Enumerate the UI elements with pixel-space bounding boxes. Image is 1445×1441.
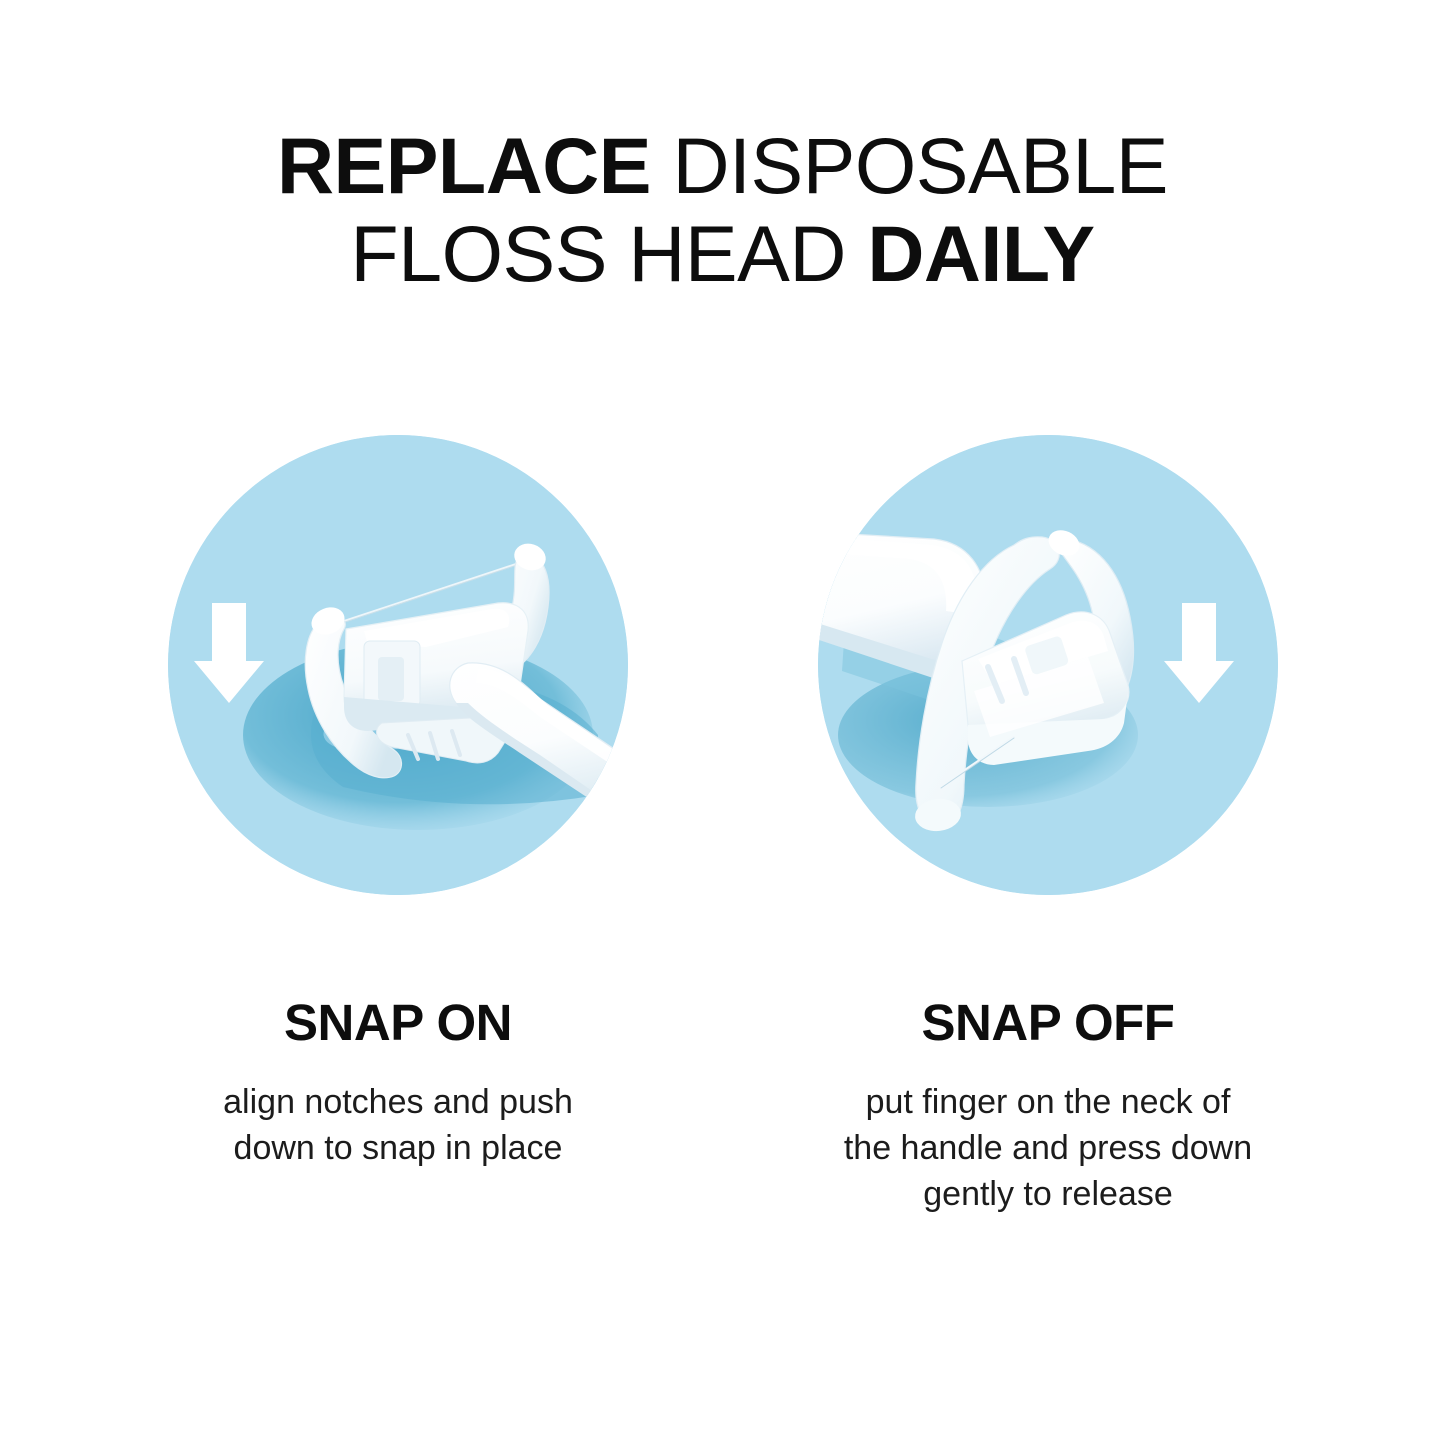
caption-snap-off: SNAP OFF put finger on the neck of the h… xyxy=(748,995,1348,1217)
page-title-word-floss-head: FLOSS HEAD xyxy=(350,209,845,298)
caption-line: gently to release xyxy=(772,1171,1324,1217)
steps-container: SNAP ON align notches and push down to s… xyxy=(0,435,1445,1235)
caption-line: put finger on the neck of xyxy=(772,1079,1324,1125)
caption-line: down to snap in place xyxy=(122,1125,674,1171)
page-title-word-daily: DAILY xyxy=(867,209,1094,298)
product-photo-snap-on xyxy=(168,435,628,895)
floss-head-snap-off-illustration xyxy=(818,435,1278,895)
page-title-word-disposable: DISPOSABLE xyxy=(672,121,1168,210)
caption-heading-snap-on: SNAP ON xyxy=(98,995,698,1051)
caption-line: align notches and push xyxy=(122,1079,674,1125)
caption-body-snap-off: put finger on the neck of the handle and… xyxy=(748,1079,1348,1217)
caption-body-snap-on: align notches and push down to snap in p… xyxy=(98,1079,698,1171)
floss-head-snap-on-illustration xyxy=(168,435,628,895)
caption-heading-snap-off: SNAP OFF xyxy=(748,995,1348,1051)
step-panel-snap-off: SNAP OFF put finger on the neck of the h… xyxy=(748,435,1348,1235)
page-title: REPLACE DISPOSABLE FLOSS HEAD DAILY xyxy=(0,122,1445,298)
page-title-word-replace: REPLACE xyxy=(277,121,651,210)
product-photo-snap-off xyxy=(818,435,1278,895)
caption-line: the handle and press down xyxy=(772,1125,1324,1171)
page-title-line-1: REPLACE DISPOSABLE xyxy=(0,122,1445,210)
caption-snap-on: SNAP ON align notches and push down to s… xyxy=(98,995,698,1171)
page-title-line-2: FLOSS HEAD DAILY xyxy=(0,210,1445,298)
step-panel-snap-on: SNAP ON align notches and push down to s… xyxy=(98,435,698,1235)
